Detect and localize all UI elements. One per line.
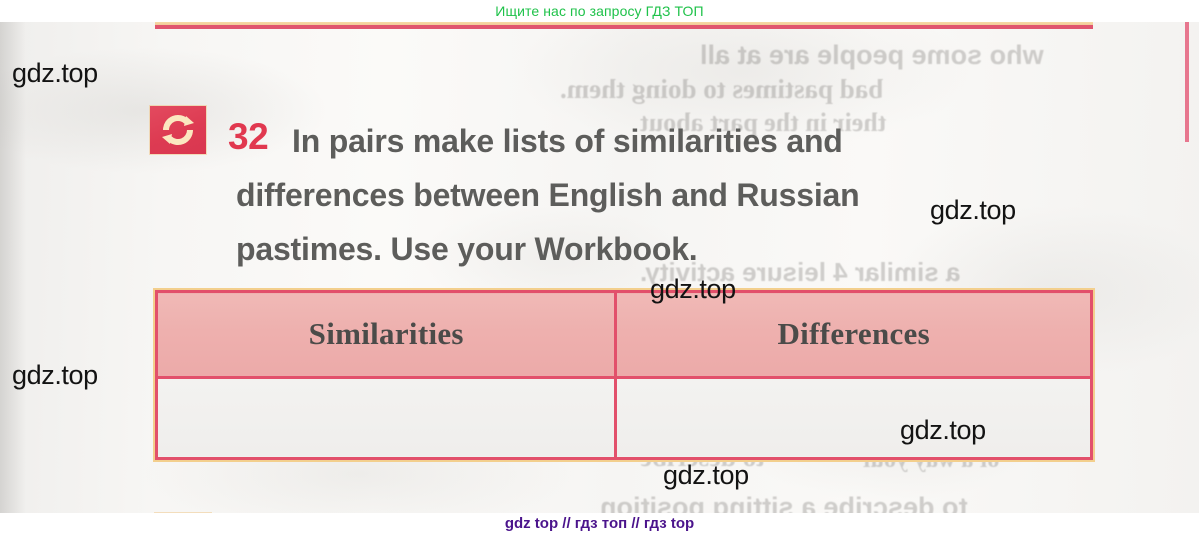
watermark-0: gdz.top [12, 58, 98, 89]
showthrough-text-9: to describe a sitting position [600, 492, 968, 513]
watermark-1: gdz.top [12, 360, 98, 391]
table-header-similarities: Similarities [157, 292, 616, 378]
table-cell-similarities-answer[interactable] [157, 377, 616, 458]
scanned-textbook-page: bad pastimes to doing them.who some peop… [0, 22, 1199, 513]
top-promo-banner: Ищите нас по запросу ГДЗ ТОП [0, 0, 1199, 22]
watermark-5: gdz.top [663, 460, 749, 491]
watermark-2: gdz.top [930, 195, 1016, 226]
watermark-3: gdz.top [650, 274, 736, 305]
watermark-4: gdz.top [900, 415, 986, 446]
bottom-promo-text: gdz top // гдз топ // гдз top [505, 513, 694, 535]
bottom-promo-strip: gdz top // гдз топ // гдз top [0, 513, 1199, 535]
table-header-row: Similarities Differences [157, 292, 1092, 378]
showthrough-text-0: bad pastimes to doing them. [560, 74, 883, 105]
refresh-arrows-icon [150, 106, 206, 154]
exercise-number: 32 [228, 118, 268, 155]
content-right-rule [1185, 22, 1189, 142]
top-promo-text: Ищите нас по запросу ГДЗ ТОП [495, 0, 703, 22]
content-top-rule [155, 25, 1093, 29]
screenshot-root: Ищите нас по запросу ГДЗ ТОП bad pastime… [0, 0, 1199, 535]
exercise-instruction-line-3: pastimes. Use your Workbook. [236, 222, 1052, 276]
page-gutter-shadow [0, 22, 26, 513]
showthrough-text-1: who some people are at all [700, 40, 1044, 71]
exercise-instruction-line-1: In pairs make lists of similarities and [292, 123, 843, 159]
table-cell-differences-answer[interactable] [616, 377, 1092, 458]
